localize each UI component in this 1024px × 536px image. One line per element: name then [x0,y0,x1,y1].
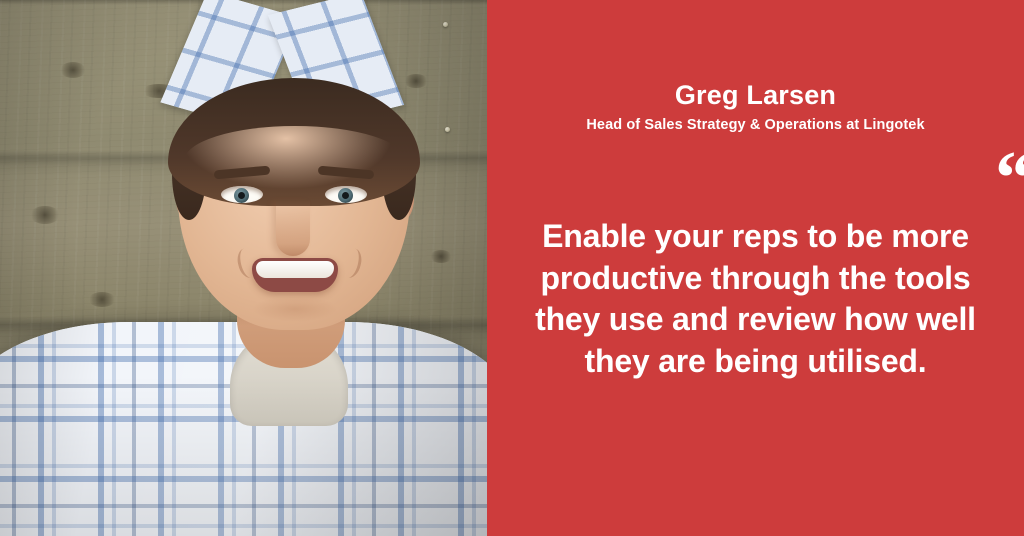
speaker-title: Head of Sales Strategy & Operations at L… [487,117,1024,133]
quote-line: productive through the tools [507,258,1004,300]
speaker-photo [0,0,487,536]
quote-panel: Greg Larsen Head of Sales Strategy & Ope… [487,0,1024,536]
quote-line: they use and review how well [507,299,1004,341]
photo-overlay [0,0,487,536]
speaker-name: Greg Larsen [487,80,1024,111]
quote-text: Enable your reps to be more productive t… [507,216,1004,382]
quote-line: they are being utilised. [507,341,1004,383]
quote-card: Greg Larsen Head of Sales Strategy & Ope… [0,0,1024,536]
opening-quote-mark: “ [995,140,1024,216]
quote-line: Enable your reps to be more [507,216,1004,258]
